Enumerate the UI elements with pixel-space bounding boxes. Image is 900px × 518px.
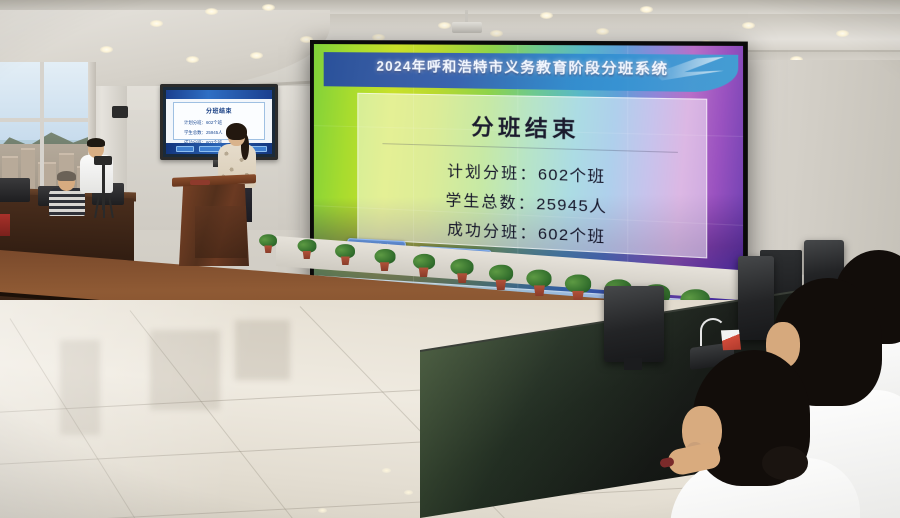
small-display-content: 分班结束 计划分班：602个班 学生总数：25945人 成功分班：602个班: [166, 90, 272, 154]
downlight: [490, 30, 503, 37]
potted-plant: [373, 251, 397, 271]
plant-leaves: [374, 249, 395, 264]
downlight: [150, 20, 163, 27]
small-display-header: [166, 90, 272, 99]
downlight: [640, 6, 653, 13]
attendee-front-hair-tie: [762, 446, 808, 480]
plant-pot: [533, 285, 546, 296]
stat-planned-classes: 计划分班：602个班: [358, 157, 706, 192]
desk-monitor[interactable]: [738, 256, 774, 340]
projector: [452, 22, 482, 33]
potted-plant: [297, 243, 316, 259]
seated-man-body: [49, 188, 85, 216]
desk-monitor[interactable]: [604, 286, 664, 362]
name-card: [721, 330, 741, 351]
red-object: [0, 214, 10, 236]
potted-plant: [448, 259, 477, 283]
small-display-button[interactable]: [176, 146, 194, 152]
cameraman-hair: [87, 138, 105, 147]
plant-leaves: [565, 274, 591, 293]
downlight: [100, 46, 113, 53]
plant-pot: [379, 262, 390, 271]
downlight: [742, 22, 755, 29]
potted-plant: [522, 267, 557, 296]
wall-camera: [112, 106, 128, 118]
potted-plant: [335, 247, 357, 265]
podium-front-panel: [195, 206, 247, 258]
plant-leaves: [336, 244, 356, 258]
potted-plant: [260, 239, 277, 253]
small-display-line-1: 计划分班：602个班: [184, 120, 258, 126]
downlight: [836, 30, 849, 37]
presenter-hair: [226, 123, 247, 140]
downlight: [262, 4, 275, 11]
small-display-card: 分班结束 计划分班：602个班 学生总数：25945人 成功分班：602个班: [173, 102, 265, 140]
slide-heading: 分班结束: [358, 108, 706, 148]
seated-man-hair: [57, 171, 76, 181]
podium-red-item: [190, 180, 210, 185]
downlight: [540, 12, 553, 19]
plant-leaves: [259, 234, 277, 247]
desk-monitor-stand: [624, 358, 642, 370]
downlight: [596, 28, 609, 35]
plant-pot: [456, 274, 468, 284]
podium: [172, 176, 256, 276]
downlight: [438, 22, 451, 29]
tripod-leg: [103, 196, 105, 218]
plant-leaves: [489, 264, 513, 281]
back-monitor[interactable]: [0, 178, 30, 202]
slide-content-panel: 分班结束 计划分班：602个班 学生总数：25945人 成功分班：602个班: [357, 93, 707, 259]
podium-body: [179, 184, 249, 266]
conference-room-scene: 分班结束 计划分班：602个班 学生总数：25945人 成功分班：602个班: [0, 0, 900, 518]
plant-leaves: [298, 239, 317, 253]
potted-plant: [485, 263, 517, 289]
plant-pot: [418, 268, 430, 277]
plant-leaves: [527, 269, 552, 287]
floor-light-reflection: [382, 468, 391, 473]
plant-pot: [264, 245, 273, 253]
window-sky: [0, 62, 92, 140]
downlight: [186, 56, 199, 63]
floor-light-reflection: [318, 508, 327, 513]
downlight: [250, 52, 263, 59]
floor-light-reflection: [404, 490, 413, 495]
plant-pot: [302, 251, 312, 259]
downlight: [205, 8, 218, 15]
small-display-title: 分班结束: [174, 106, 264, 115]
plant-pot: [495, 279, 508, 289]
window-mullion: [0, 118, 92, 122]
plant-pot: [341, 257, 351, 266]
potted-plant: [410, 255, 436, 277]
potted-plant: [560, 270, 598, 301]
